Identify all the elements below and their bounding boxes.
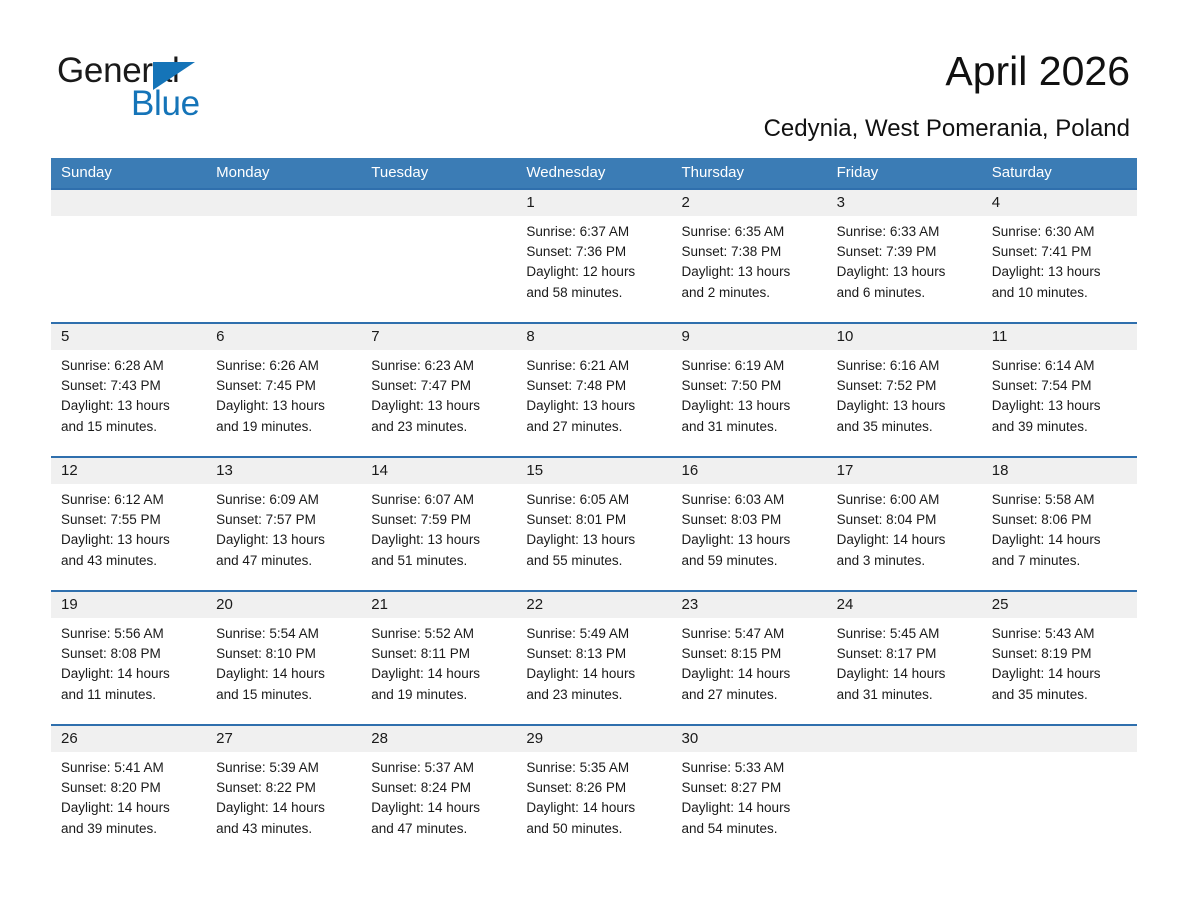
daylight-text-line1: Daylight: 12 hours [526,262,663,282]
sunrise-text: Sunrise: 5:43 AM [992,624,1129,644]
daylight-text-line1: Daylight: 13 hours [216,396,353,416]
day-number[interactable]: 26 [51,726,206,752]
sunset-text: Sunset: 7:48 PM [526,376,663,396]
day-cell[interactable]: Sunrise: 5:49 AMSunset: 8:13 PMDaylight:… [516,618,671,720]
sunrise-text: Sunrise: 6:37 AM [526,222,663,242]
daylight-text-line1: Daylight: 13 hours [992,396,1129,416]
empty-day-cell [982,752,1137,854]
daylight-text-line1: Daylight: 14 hours [682,664,819,684]
day-cell[interactable]: Sunrise: 5:58 AMSunset: 8:06 PMDaylight:… [982,484,1137,586]
day-number[interactable]: 19 [51,592,206,618]
sunset-text: Sunset: 7:54 PM [992,376,1129,396]
day-number[interactable]: 30 [672,726,827,752]
sunset-text: Sunset: 8:11 PM [371,644,508,664]
weekday-header-wednesday: Wednesday [516,158,671,188]
weekday-header-thursday: Thursday [672,158,827,188]
daylight-text-line2: and 47 minutes. [371,819,508,839]
daylight-text-line2: and 50 minutes. [526,819,663,839]
daylight-text-line1: Daylight: 13 hours [837,262,974,282]
daylight-text-line1: Daylight: 14 hours [526,798,663,818]
daylight-text-line2: and 27 minutes. [526,417,663,437]
sunrise-text: Sunrise: 6:35 AM [682,222,819,242]
daylight-text-line1: Daylight: 14 hours [216,664,353,684]
sunset-text: Sunset: 7:47 PM [371,376,508,396]
daylight-text-line1: Daylight: 13 hours [837,396,974,416]
sunset-text: Sunset: 7:45 PM [216,376,353,396]
sunset-text: Sunset: 8:10 PM [216,644,353,664]
day-number[interactable]: 22 [516,592,671,618]
sunrise-text: Sunrise: 6:23 AM [371,356,508,376]
daylight-text-line2: and 15 minutes. [61,417,198,437]
daylight-text-line2: and 43 minutes. [61,551,198,571]
day-number[interactable]: 10 [827,324,982,350]
daylight-text-line2: and 47 minutes. [216,551,353,571]
daylight-text-line1: Daylight: 13 hours [61,530,198,550]
empty-day-number [982,726,1137,752]
empty-day-cell [361,216,516,318]
sunrise-text: Sunrise: 6:09 AM [216,490,353,510]
day-number[interactable]: 21 [361,592,516,618]
sunrise-text: Sunrise: 5:33 AM [682,758,819,778]
sunset-text: Sunset: 7:59 PM [371,510,508,530]
sunrise-text: Sunrise: 6:14 AM [992,356,1129,376]
daylight-text-line1: Daylight: 13 hours [682,530,819,550]
day-cell[interactable]: Sunrise: 6:19 AMSunset: 7:50 PMDaylight:… [672,350,827,452]
daylight-text-line1: Daylight: 13 hours [526,530,663,550]
daylight-text-line1: Daylight: 14 hours [837,664,974,684]
sunset-text: Sunset: 8:20 PM [61,778,198,798]
sunrise-text: Sunrise: 5:45 AM [837,624,974,644]
calendar-week-row: 1234Sunrise: 6:37 AMSunset: 7:36 PMDayli… [51,188,1137,318]
daylight-text-line2: and 31 minutes. [682,417,819,437]
empty-day-cell [827,752,982,854]
daylight-text-line2: and 58 minutes. [526,283,663,303]
day-cell[interactable]: Sunrise: 6:09 AMSunset: 7:57 PMDaylight:… [206,484,361,586]
daylight-text-line2: and 7 minutes. [992,551,1129,571]
daylight-text-line2: and 23 minutes. [371,417,508,437]
daylight-text-line2: and 31 minutes. [837,685,974,705]
daylight-text-line2: and 3 minutes. [837,551,974,571]
daylight-text-line2: and 35 minutes. [837,417,974,437]
weekday-header-sunday: Sunday [51,158,206,188]
empty-day-number [206,190,361,216]
week-date-number-band: 12131415161718 [51,458,1137,484]
sunrise-text: Sunrise: 5:58 AM [992,490,1129,510]
sunset-text: Sunset: 8:26 PM [526,778,663,798]
day-number[interactable]: 2 [672,190,827,216]
week-detail-band: Sunrise: 6:37 AMSunset: 7:36 PMDaylight:… [51,216,1137,318]
daylight-text-line1: Daylight: 13 hours [682,262,819,282]
day-number[interactable]: 3 [827,190,982,216]
day-number[interactable]: 6 [206,324,361,350]
day-number[interactable]: 23 [672,592,827,618]
day-cell[interactable]: Sunrise: 6:30 AMSunset: 7:41 PMDaylight:… [982,216,1137,318]
day-number[interactable]: 8 [516,324,671,350]
week-detail-band: Sunrise: 6:12 AMSunset: 7:55 PMDaylight:… [51,484,1137,586]
calendar-week-row: 12131415161718Sunrise: 6:12 AMSunset: 7:… [51,456,1137,586]
daylight-text-line1: Daylight: 13 hours [682,396,819,416]
daylight-text-line2: and 54 minutes. [682,819,819,839]
day-number[interactable]: 17 [827,458,982,484]
daylight-text-line2: and 59 minutes. [682,551,819,571]
calendar-week-row: 567891011Sunrise: 6:28 AMSunset: 7:43 PM… [51,322,1137,452]
sunset-text: Sunset: 7:57 PM [216,510,353,530]
day-cell[interactable]: Sunrise: 6:12 AMSunset: 7:55 PMDaylight:… [51,484,206,586]
day-cell[interactable]: Sunrise: 6:33 AMSunset: 7:39 PMDaylight:… [827,216,982,318]
daylight-text-line1: Daylight: 13 hours [61,396,198,416]
day-cell[interactable]: Sunrise: 5:54 AMSunset: 8:10 PMDaylight:… [206,618,361,720]
daylight-text-line1: Daylight: 13 hours [371,530,508,550]
day-number[interactable]: 4 [982,190,1137,216]
day-cell[interactable]: Sunrise: 6:21 AMSunset: 7:48 PMDaylight:… [516,350,671,452]
day-cell[interactable]: Sunrise: 6:28 AMSunset: 7:43 PMDaylight:… [51,350,206,452]
daylight-text-line2: and 43 minutes. [216,819,353,839]
weekday-header-friday: Friday [827,158,982,188]
daylight-text-line2: and 39 minutes. [992,417,1129,437]
day-cell[interactable]: Sunrise: 5:41 AMSunset: 8:20 PMDaylight:… [51,752,206,854]
week-detail-band: Sunrise: 6:28 AMSunset: 7:43 PMDaylight:… [51,350,1137,452]
sunrise-text: Sunrise: 6:21 AM [526,356,663,376]
daylight-text-line2: and 51 minutes. [371,551,508,571]
sunset-text: Sunset: 8:17 PM [837,644,974,664]
day-cell[interactable]: Sunrise: 5:47 AMSunset: 8:15 PMDaylight:… [672,618,827,720]
day-number[interactable]: 1 [516,190,671,216]
day-cell[interactable]: Sunrise: 6:00 AMSunset: 8:04 PMDaylight:… [827,484,982,586]
week-detail-band: Sunrise: 5:41 AMSunset: 8:20 PMDaylight:… [51,752,1137,854]
day-cell[interactable]: Sunrise: 6:37 AMSunset: 7:36 PMDaylight:… [516,216,671,318]
sunset-text: Sunset: 8:27 PM [682,778,819,798]
sunrise-text: Sunrise: 5:52 AM [371,624,508,644]
sunrise-text: Sunrise: 6:00 AM [837,490,974,510]
sunrise-text: Sunrise: 6:30 AM [992,222,1129,242]
day-number[interactable]: 27 [206,726,361,752]
day-number[interactable]: 29 [516,726,671,752]
day-cell[interactable]: Sunrise: 5:39 AMSunset: 8:22 PMDaylight:… [206,752,361,854]
sunset-text: Sunset: 8:13 PM [526,644,663,664]
daylight-text-line2: and 35 minutes. [992,685,1129,705]
day-cell[interactable]: Sunrise: 5:33 AMSunset: 8:27 PMDaylight:… [672,752,827,854]
weekday-header-saturday: Saturday [982,158,1137,188]
day-number[interactable]: 25 [982,592,1137,618]
day-cell[interactable]: Sunrise: 6:35 AMSunset: 7:38 PMDaylight:… [672,216,827,318]
sunset-text: Sunset: 8:19 PM [992,644,1129,664]
day-cell[interactable]: Sunrise: 6:14 AMSunset: 7:54 PMDaylight:… [982,350,1137,452]
day-cell[interactable]: Sunrise: 6:07 AMSunset: 7:59 PMDaylight:… [361,484,516,586]
empty-day-number [51,190,206,216]
day-number[interactable]: 12 [51,458,206,484]
daylight-text-line2: and 23 minutes. [526,685,663,705]
sunrise-text: Sunrise: 5:35 AM [526,758,663,778]
daylight-text-line1: Daylight: 13 hours [371,396,508,416]
daylight-text-line2: and 19 minutes. [216,417,353,437]
calendar-page: General Blue April 2026 Cedynia, West Po… [0,0,1188,918]
sunset-text: Sunset: 8:24 PM [371,778,508,798]
sunset-text: Sunset: 8:15 PM [682,644,819,664]
day-number[interactable]: 9 [672,324,827,350]
day-cell[interactable]: Sunrise: 5:37 AMSunset: 8:24 PMDaylight:… [361,752,516,854]
page-header: General Blue April 2026 Cedynia, West Po… [0,0,1188,158]
sunset-text: Sunset: 7:39 PM [837,242,974,262]
sunrise-text: Sunrise: 6:33 AM [837,222,974,242]
week-date-number-band: 19202122232425 [51,592,1137,618]
day-cell[interactable]: Sunrise: 5:45 AMSunset: 8:17 PMDaylight:… [827,618,982,720]
day-number[interactable]: 18 [982,458,1137,484]
sunrise-text: Sunrise: 6:16 AM [837,356,974,376]
day-number[interactable]: 14 [361,458,516,484]
sunrise-text: Sunrise: 6:19 AM [682,356,819,376]
weekday-header-row: Sunday Monday Tuesday Wednesday Thursday… [51,158,1137,188]
daylight-text-line1: Daylight: 13 hours [526,396,663,416]
daylight-text-line1: Daylight: 14 hours [371,664,508,684]
daylight-text-line2: and 6 minutes. [837,283,974,303]
sunset-text: Sunset: 7:41 PM [992,242,1129,262]
sunset-text: Sunset: 8:03 PM [682,510,819,530]
day-cell[interactable]: Sunrise: 6:23 AMSunset: 7:47 PMDaylight:… [361,350,516,452]
sunset-text: Sunset: 7:43 PM [61,376,198,396]
day-cell[interactable]: Sunrise: 5:35 AMSunset: 8:26 PMDaylight:… [516,752,671,854]
day-cell[interactable]: Sunrise: 6:26 AMSunset: 7:45 PMDaylight:… [206,350,361,452]
sunrise-text: Sunrise: 5:49 AM [526,624,663,644]
sunrise-text: Sunrise: 6:26 AM [216,356,353,376]
daylight-text-line2: and 2 minutes. [682,283,819,303]
sunset-text: Sunset: 8:01 PM [526,510,663,530]
week-detail-band: Sunrise: 5:56 AMSunset: 8:08 PMDaylight:… [51,618,1137,720]
day-cell[interactable]: Sunrise: 5:56 AMSunset: 8:08 PMDaylight:… [51,618,206,720]
daylight-text-line2: and 27 minutes. [682,685,819,705]
sunset-text: Sunset: 7:52 PM [837,376,974,396]
empty-day-number [827,726,982,752]
sunrise-text: Sunrise: 6:12 AM [61,490,198,510]
empty-day-cell [51,216,206,318]
day-number[interactable]: 24 [827,592,982,618]
day-number[interactable]: 5 [51,324,206,350]
daylight-text-line2: and 19 minutes. [371,685,508,705]
daylight-text-line1: Daylight: 14 hours [992,664,1129,684]
day-number[interactable]: 15 [516,458,671,484]
daylight-text-line1: Daylight: 13 hours [216,530,353,550]
empty-day-cell [206,216,361,318]
day-number[interactable]: 28 [361,726,516,752]
daylight-text-line2: and 15 minutes. [216,685,353,705]
logo-text-blue: Blue [131,85,200,123]
sunrise-text: Sunrise: 6:05 AM [526,490,663,510]
daylight-text-line2: and 10 minutes. [992,283,1129,303]
daylight-text-line1: Daylight: 14 hours [371,798,508,818]
calendar-weeks: 1234Sunrise: 6:37 AMSunset: 7:36 PMDayli… [51,188,1137,854]
empty-day-number [361,190,516,216]
daylight-text-line1: Daylight: 14 hours [216,798,353,818]
day-cell[interactable]: Sunrise: 6:16 AMSunset: 7:52 PMDaylight:… [827,350,982,452]
day-number[interactable]: 16 [672,458,827,484]
day-number[interactable]: 7 [361,324,516,350]
weekday-header-monday: Monday [206,158,361,188]
daylight-text-line1: Daylight: 14 hours [837,530,974,550]
day-number[interactable]: 13 [206,458,361,484]
day-number[interactable]: 20 [206,592,361,618]
sunset-text: Sunset: 8:08 PM [61,644,198,664]
daylight-text-line2: and 55 minutes. [526,551,663,571]
sunset-text: Sunset: 7:36 PM [526,242,663,262]
weekday-header-tuesday: Tuesday [361,158,516,188]
daylight-text-line1: Daylight: 14 hours [526,664,663,684]
location-subtitle: Cedynia, West Pomerania, Poland [764,113,1130,145]
sunrise-text: Sunrise: 6:03 AM [682,490,819,510]
daylight-text-line2: and 39 minutes. [61,819,198,839]
daylight-text-line2: and 11 minutes. [61,685,198,705]
calendar-week-row: 19202122232425Sunrise: 5:56 AMSunset: 8:… [51,590,1137,720]
sunrise-text: Sunrise: 5:47 AM [682,624,819,644]
sunset-text: Sunset: 8:22 PM [216,778,353,798]
week-date-number-band: 2627282930 [51,726,1137,752]
sunrise-text: Sunrise: 5:56 AM [61,624,198,644]
week-date-number-band: 1234 [51,190,1137,216]
daylight-text-line1: Daylight: 14 hours [61,664,198,684]
general-blue-logo[interactable]: General Blue [57,52,297,122]
sunset-text: Sunset: 7:55 PM [61,510,198,530]
day-cell[interactable]: Sunrise: 6:03 AMSunset: 8:03 PMDaylight:… [672,484,827,586]
sunset-text: Sunset: 7:38 PM [682,242,819,262]
sunset-text: Sunset: 8:06 PM [992,510,1129,530]
sunrise-text: Sunrise: 5:41 AM [61,758,198,778]
sunrise-text: Sunrise: 5:37 AM [371,758,508,778]
page-title: April 2026 [945,47,1130,95]
sunrise-text: Sunrise: 6:07 AM [371,490,508,510]
sunset-text: Sunset: 7:50 PM [682,376,819,396]
daylight-text-line1: Daylight: 14 hours [682,798,819,818]
week-date-number-band: 567891011 [51,324,1137,350]
sunset-text: Sunset: 8:04 PM [837,510,974,530]
sunrise-text: Sunrise: 5:54 AM [216,624,353,644]
day-number[interactable]: 11 [982,324,1137,350]
calendar-table: Sunday Monday Tuesday Wednesday Thursday… [51,158,1137,854]
daylight-text-line1: Daylight: 14 hours [992,530,1129,550]
day-cell[interactable]: Sunrise: 5:43 AMSunset: 8:19 PMDaylight:… [982,618,1137,720]
daylight-text-line1: Daylight: 13 hours [992,262,1129,282]
sunrise-text: Sunrise: 6:28 AM [61,356,198,376]
sunrise-text: Sunrise: 5:39 AM [216,758,353,778]
daylight-text-line1: Daylight: 14 hours [61,798,198,818]
day-cell[interactable]: Sunrise: 6:05 AMSunset: 8:01 PMDaylight:… [516,484,671,586]
day-cell[interactable]: Sunrise: 5:52 AMSunset: 8:11 PMDaylight:… [361,618,516,720]
calendar-week-row: 2627282930Sunrise: 5:41 AMSunset: 8:20 P… [51,724,1137,854]
